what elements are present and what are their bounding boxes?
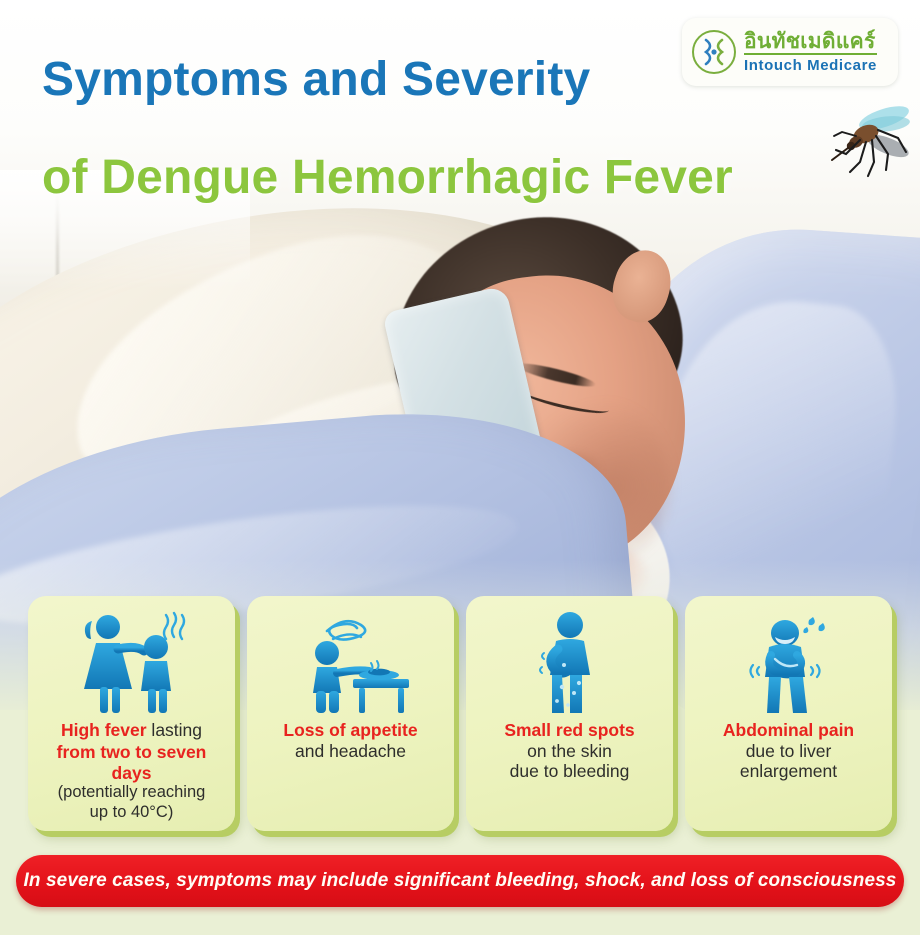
mother-checking-child-fever-icon [36, 608, 227, 716]
symptom-card-text: Abdominal pain due to liver enlargement [723, 720, 854, 782]
severe-cases-banner-text: In severe cases, symptoms may include si… [24, 870, 897, 892]
symptom-card-text: Loss of appetite and headache [283, 720, 417, 761]
symptom-detail: on the skin [504, 741, 634, 762]
symptom-title: Loss of appetite [283, 720, 417, 741]
logo-thai-name: อินทัชเมดิแคร์ [744, 31, 877, 55]
page-title-line-1: Symptoms and Severity [42, 52, 590, 107]
severe-cases-banner: In severe cases, symptoms may include si… [16, 855, 904, 907]
infographic-poster: Symptoms and Severity of Dengue Hemorrha… [0, 0, 920, 935]
symptom-note: (potentially reaching [36, 783, 227, 802]
person-with-skin-spots-icon [474, 608, 665, 716]
page-title-line-2: of Dengue Hemorrhagic Fever [42, 150, 733, 205]
intouch-circle-logo-icon [692, 30, 736, 74]
mosquito-icon [826, 98, 920, 190]
brand-logo[interactable]: อินทัชเมดิแคร์ Intouch Medicare [682, 18, 898, 86]
symptom-note-cont: up to 40°C) [36, 803, 227, 822]
symptom-title: Small red spots [504, 720, 634, 741]
person-refusing-food-dizzy-icon [255, 608, 446, 716]
symptom-card[interactable]: Small red spots on the skin due to bleed… [466, 596, 673, 831]
symptom-detail: due to liver [723, 741, 854, 762]
symptom-detail: from two to seven days [36, 742, 227, 783]
symptom-title: High fever [61, 720, 147, 740]
symptom-card-text: Small red spots on the skin due to bleed… [504, 720, 634, 782]
symptom-card-row: High fever lasting from two to seven day… [0, 596, 920, 836]
symptom-detail-cont: due to bleeding [504, 761, 634, 782]
symptom-title-cont: lasting [147, 720, 202, 740]
symptom-detail-cont: enlargement [723, 761, 854, 782]
symptom-card[interactable]: High fever lasting from two to seven day… [28, 596, 235, 831]
symptom-card[interactable]: Abdominal pain due to liver enlargement [685, 596, 892, 831]
symptom-detail: and headache [283, 741, 417, 762]
symptom-card-text: High fever lasting from two to seven day… [36, 720, 227, 822]
symptom-title: Abdominal pain [723, 720, 854, 741]
person-abdominal-pain-icon [693, 608, 884, 716]
logo-english-name: Intouch Medicare [744, 58, 877, 73]
poster-header: Symptoms and Severity of Dengue Hemorrha… [0, 0, 920, 215]
symptom-card[interactable]: Loss of appetite and headache [247, 596, 454, 831]
